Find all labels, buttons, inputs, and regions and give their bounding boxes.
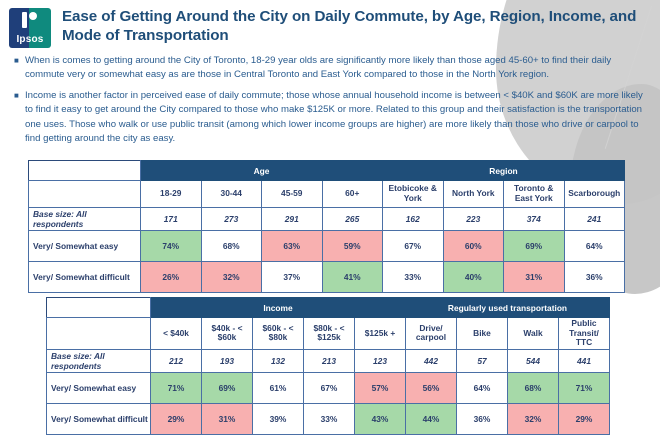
table-row: Very/ Somewhat easy71%69%61%67%57%56%64%… <box>47 372 610 403</box>
table-cell: 33% <box>304 403 355 434</box>
table-group-header-row: AgeRegion <box>29 161 625 181</box>
table-column-header-row: 18-2930-4445-5960+Etobicoke & YorkNorth … <box>29 181 625 208</box>
table-cell: 32% <box>508 403 559 434</box>
table-cell: 71% <box>151 372 202 403</box>
table-cell: 69% <box>504 231 565 262</box>
bullet-item: ■ Income is another factor in perceived … <box>14 89 648 147</box>
table-cell: 31% <box>504 262 565 293</box>
table-cell: 374 <box>504 208 565 231</box>
table-column-header: $125k + <box>355 318 406 350</box>
age-region-table: AgeRegion18-2930-4445-5960+Etobicoke & Y… <box>28 160 625 293</box>
ipsos-logo-icon: Ipsos <box>9 8 51 48</box>
table-column-header: Public Transit/ TTC <box>559 318 610 350</box>
table-cell: 71% <box>559 372 610 403</box>
table-row-label: Very/ Somewhat difficult <box>47 403 151 434</box>
table-row-label: Very/ Somewhat difficult <box>29 262 141 293</box>
table-cell: 43% <box>355 403 406 434</box>
table-corner-cell <box>29 161 141 181</box>
bullet-text: Income is another factor in perceived ea… <box>25 89 648 147</box>
table-row-label: Very/ Somewhat easy <box>47 372 151 403</box>
table-cell: 26% <box>141 262 202 293</box>
table-group-header: Age <box>141 161 383 181</box>
table-column-header: Drive/ carpool <box>406 318 457 350</box>
bullet-list: ■ When is comes to getting around the Ci… <box>14 54 648 146</box>
table-cell: 193 <box>202 349 253 372</box>
table-group-header: Income <box>151 298 406 318</box>
table-cell: 61% <box>253 372 304 403</box>
table-row: Base size: All respondents17127329126516… <box>29 208 625 231</box>
table-column-header: North York <box>443 181 504 208</box>
table-cell: 36% <box>457 403 508 434</box>
table-row: Very/ Somewhat difficult26%32%37%41%33%4… <box>29 262 625 293</box>
table-cell: 67% <box>383 231 444 262</box>
table-cell: 442 <box>406 349 457 372</box>
slide-header: Ipsos Ease of Getting Around the City on… <box>0 0 660 48</box>
table-cell: 64% <box>457 372 508 403</box>
table-cell: 33% <box>383 262 444 293</box>
table-column-header: Walk <box>508 318 559 350</box>
table-column-header: Scarborough <box>564 181 625 208</box>
table-cell: 544 <box>508 349 559 372</box>
table-corner-cell <box>47 318 151 350</box>
table-cell: 171 <box>141 208 202 231</box>
table-corner-cell <box>47 298 151 318</box>
table-cell: 63% <box>262 231 323 262</box>
table-cell: 68% <box>508 372 559 403</box>
table-cell: 56% <box>406 372 457 403</box>
bullet-marker-icon: ■ <box>14 89 25 147</box>
table-cell: 44% <box>406 403 457 434</box>
table-cell: 265 <box>322 208 383 231</box>
table-cell: 37% <box>262 262 323 293</box>
table-cell: 123 <box>355 349 406 372</box>
table-row-label: Base size: All respondents <box>29 208 141 231</box>
table-cell: 69% <box>202 372 253 403</box>
table-cell: 74% <box>141 231 202 262</box>
table-group-header: Regularly used transportation <box>406 298 610 318</box>
table-cell: 40% <box>443 262 504 293</box>
table-column-header: Toronto & East York <box>504 181 565 208</box>
table-row: Very/ Somewhat difficult29%31%39%33%43%4… <box>47 403 610 434</box>
bullet-item: ■ When is comes to getting around the Ci… <box>14 54 648 83</box>
bullet-marker-icon: ■ <box>14 54 25 83</box>
table-row-label: Base size: All respondents <box>47 349 151 372</box>
table-cell: 29% <box>559 403 610 434</box>
ipsos-logo-wordmark: Ipsos <box>9 34 51 45</box>
slide-canvas: Ipsos Ease of Getting Around the City on… <box>0 0 660 442</box>
table-column-header: Etobicoke & York <box>383 181 444 208</box>
table-column-header-row: < $40k$40k - < $60k$60k - < $80k$80k - <… <box>47 318 610 350</box>
income-transportation-table: IncomeRegularly used transportation< $40… <box>46 297 610 435</box>
table-column-header: < $40k <box>151 318 202 350</box>
table-cell: 241 <box>564 208 625 231</box>
table-group-header: Region <box>383 161 625 181</box>
table-cell: 39% <box>253 403 304 434</box>
table-cell: 32% <box>201 262 262 293</box>
slide-content: Ipsos Ease of Getting Around the City on… <box>0 0 660 146</box>
table-column-header: $60k - < $80k <box>253 318 304 350</box>
table-cell: 212 <box>151 349 202 372</box>
table-row: Base size: All respondents21219313221312… <box>47 349 610 372</box>
table-cell: 64% <box>564 231 625 262</box>
table-column-header: $40k - < $60k <box>202 318 253 350</box>
table-row: Very/ Somewhat easy74%68%63%59%67%60%69%… <box>29 231 625 262</box>
age-region-table-container: AgeRegion18-2930-4445-5960+Etobicoke & Y… <box>28 160 625 293</box>
table-corner-cell <box>29 181 141 208</box>
table-column-header: Bike <box>457 318 508 350</box>
table-column-header: $80k - < $125k <box>304 318 355 350</box>
table-column-header: 45-59 <box>262 181 323 208</box>
table-cell: 36% <box>564 262 625 293</box>
table-row-label: Very/ Somewhat easy <box>29 231 141 262</box>
table-cell: 441 <box>559 349 610 372</box>
table-cell: 213 <box>304 349 355 372</box>
table-cell: 162 <box>383 208 444 231</box>
table-cell: 68% <box>201 231 262 262</box>
table-cell: 57% <box>355 372 406 403</box>
table-cell: 31% <box>202 403 253 434</box>
ipsos-logo-mark <box>22 12 37 28</box>
bullet-text: When is comes to getting around the City… <box>25 54 648 83</box>
table-cell: 273 <box>201 208 262 231</box>
table-cell: 291 <box>262 208 323 231</box>
table-cell: 41% <box>322 262 383 293</box>
table-cell: 223 <box>443 208 504 231</box>
table-cell: 67% <box>304 372 355 403</box>
table-column-header: 18-29 <box>141 181 202 208</box>
table-cell: 59% <box>322 231 383 262</box>
income-transportation-table-container: IncomeRegularly used transportation< $40… <box>46 297 610 435</box>
table-column-header: 60+ <box>322 181 383 208</box>
table-cell: 29% <box>151 403 202 434</box>
table-group-header-row: IncomeRegularly used transportation <box>47 298 610 318</box>
table-column-header: 30-44 <box>201 181 262 208</box>
page-title: Ease of Getting Around the City on Daily… <box>62 7 647 46</box>
table-cell: 60% <box>443 231 504 262</box>
table-cell: 57 <box>457 349 508 372</box>
table-cell: 132 <box>253 349 304 372</box>
